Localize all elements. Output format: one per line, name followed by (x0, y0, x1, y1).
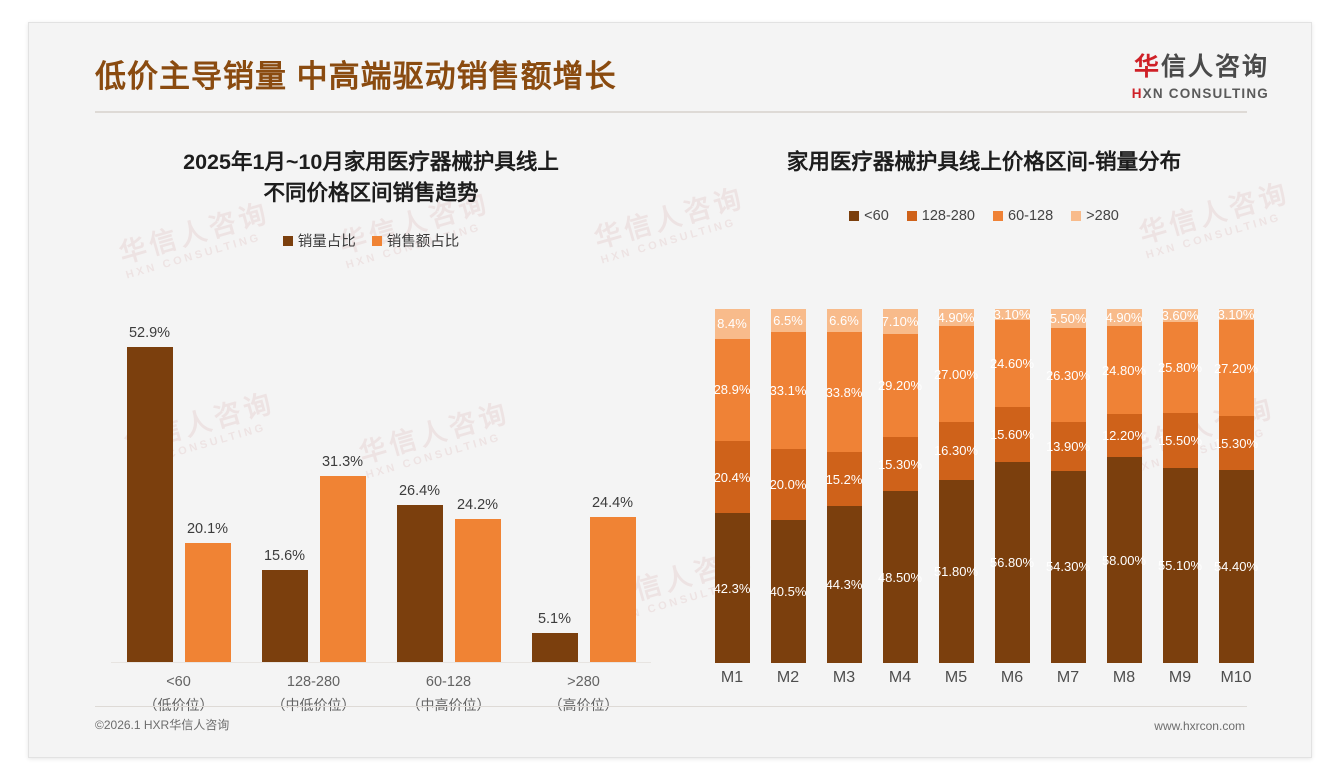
legend-item[interactable]: 销售额占比 (372, 230, 460, 251)
stack-segment[interactable]: 15.2% (827, 452, 862, 506)
logo-chinese-rest: 信人咨询 (1161, 53, 1269, 81)
xaxis-label: M4 (872, 669, 928, 687)
stack-segment[interactable]: 6.6% (827, 309, 862, 332)
xaxis-label-main: 128-280 (287, 674, 340, 690)
xaxis-label: 128-280（中低价位） (246, 671, 381, 717)
stack-segment-label: 15.60% (990, 427, 1034, 442)
legend-swatch-icon (907, 211, 917, 221)
left-chart-title-line1: 2025年1月~10月家用医疗器械护具线上 (65, 147, 677, 178)
left-chart-legend: 销量占比销售额占比 (65, 230, 677, 251)
left-chart-axis (111, 662, 651, 664)
logo-english-first: H (1132, 86, 1143, 101)
bar[interactable] (262, 570, 308, 663)
stacked-bar[interactable]: 7.10%29.20%15.30%48.50% (883, 309, 918, 663)
legend-item-label: 销量占比 (298, 230, 356, 251)
footer-copyright: ©2026.1 HXR华信人咨询 (95, 716, 229, 733)
stack-segment-label: 8.4% (717, 316, 747, 331)
stack-segment[interactable]: 7.10% (883, 309, 918, 334)
stack-segment-label: 5.50% (1050, 311, 1087, 326)
stack-segment-label: 33.1% (770, 383, 807, 398)
xaxis-label-main: 60-128 (426, 674, 471, 690)
stack-segment[interactable]: 55.10% (1163, 468, 1198, 663)
legend-item-label: <60 (864, 208, 889, 224)
stack-column: 6.5%33.1%20.0%40.5% (760, 309, 816, 663)
bar-value-label: 15.6% (264, 548, 305, 564)
xaxis-label: M2 (760, 669, 816, 687)
bar-column[interactable]: 20.1% (185, 305, 231, 663)
left-chart-panel: 2025年1月~10月家用医疗器械护具线上 不同价格区间销售趋势 销量占比销售额… (65, 119, 677, 699)
stack-segment-label: 6.6% (829, 313, 859, 328)
bar-value-label: 24.4% (592, 495, 633, 511)
legend-item[interactable]: 销量占比 (283, 230, 356, 251)
stacked-bar[interactable]: 3.10%27.20%15.30%54.40% (1219, 309, 1254, 663)
stack-segment-label: 13.90% (1046, 439, 1090, 454)
stack-column: 5.50%26.30%13.90%54.30% (1040, 309, 1096, 663)
stack-segment-label: 3.60% (1162, 308, 1199, 323)
stacked-bar[interactable]: 5.50%26.30%13.90%54.30% (1051, 309, 1086, 663)
bar-group: 5.1%24.4% (516, 305, 651, 663)
stacked-bar[interactable]: 4.90%24.80%12.20%58.00% (1107, 309, 1142, 663)
stack-segment-label: 48.50% (878, 570, 922, 585)
legend-swatch-icon (993, 211, 1003, 221)
slide: 华信人咨询 HXN CONSULTING 华信人咨询 HXN CONSULTIN… (28, 22, 1312, 758)
stack-column: 4.90%27.00%16.30%51.80% (928, 309, 984, 663)
bar-group: 26.4%24.2% (381, 305, 516, 663)
stacked-bar[interactable]: 3.60%25.80%15.50%55.10% (1163, 309, 1198, 663)
stack-segment-label: 33.8% (826, 385, 863, 400)
stack-segment[interactable]: 3.10% (995, 309, 1030, 320)
legend-swatch-icon (372, 236, 382, 246)
right-chart-title: 家用医疗器械护具线上价格区间-销量分布 (684, 119, 1284, 178)
legend-item[interactable]: >280 (1071, 208, 1119, 224)
stack-segment[interactable]: 15.50% (1163, 413, 1198, 468)
stack-segment-label: 15.30% (1214, 436, 1258, 451)
stack-segment[interactable]: 24.60% (995, 320, 1030, 407)
bar[interactable] (127, 347, 173, 663)
legend-item[interactable]: 60-128 (993, 208, 1053, 224)
stacked-bar[interactable]: 6.6%33.8%15.2%44.3% (827, 309, 862, 663)
stack-segment-label: 54.30% (1046, 559, 1090, 574)
bar-group: 52.9%20.1% (111, 305, 246, 663)
stack-segment[interactable]: 4.90% (939, 309, 974, 326)
stack-segment[interactable]: 56.80% (995, 462, 1030, 663)
stack-column: 7.10%29.20%15.30%48.50% (872, 309, 928, 663)
stack-segment-label: 29.20% (878, 378, 922, 393)
right-chart-legend: <60128-28060-128>280 (684, 208, 1284, 224)
stack-segment[interactable]: 27.20% (1219, 320, 1254, 416)
legend-item[interactable]: 128-280 (907, 208, 975, 224)
stack-segment-label: 4.90% (1106, 310, 1143, 325)
xaxis-label: 60-128（中高价位） (381, 671, 516, 717)
xaxis-label: M5 (928, 669, 984, 687)
stack-column: 3.60%25.80%15.50%55.10% (1152, 309, 1208, 663)
legend-item-label: 销售额占比 (387, 230, 460, 251)
footer-divider (95, 706, 1247, 707)
stacked-bar[interactable]: 4.90%27.00%16.30%51.80% (939, 309, 974, 663)
stack-segment[interactable]: 54.30% (1051, 471, 1086, 663)
stack-segment-label: 24.80% (1102, 363, 1146, 378)
stack-segment-label: 15.30% (878, 457, 922, 472)
xaxis-label: M6 (984, 669, 1040, 687)
xaxis-label: >280（高价位） (516, 671, 651, 717)
stack-segment-label: 27.20% (1214, 361, 1258, 376)
xaxis-label: M1 (704, 669, 760, 687)
stack-segment[interactable]: 13.90% (1051, 422, 1086, 471)
bar-column[interactable]: 5.1% (532, 305, 578, 663)
legend-item-label: >280 (1086, 208, 1119, 224)
legend-item[interactable]: <60 (849, 208, 889, 224)
stack-segment[interactable]: 20.0% (771, 449, 806, 520)
bar-value-label: 5.1% (538, 611, 571, 627)
right-chart-panel: 家用医疗器械护具线上价格区间-销量分布 <60128-28060-128>280… (684, 119, 1284, 699)
stack-segment[interactable]: 54.40% (1219, 470, 1254, 663)
footer-website: www.hxrcon.com (1154, 719, 1245, 733)
bar[interactable] (455, 519, 501, 663)
stack-column: 3.10%27.20%15.30%54.40% (1208, 309, 1264, 663)
stack-segment-label: 58.00% (1102, 553, 1146, 568)
stack-segment[interactable]: 25.80% (1163, 322, 1198, 413)
stack-segment-label: 24.60% (990, 356, 1034, 371)
bar-value-label: 24.2% (457, 497, 498, 513)
legend-swatch-icon (283, 236, 293, 246)
stack-segment[interactable]: 15.60% (995, 407, 1030, 462)
left-chart-title: 2025年1月~10月家用医疗器械护具线上 不同价格区间销售趋势 (65, 119, 677, 208)
bar[interactable] (185, 543, 231, 663)
logo-chinese-first: 华 (1134, 53, 1161, 81)
stack-segment[interactable]: 27.00% (939, 326, 974, 422)
stack-segment-label: 15.50% (1158, 433, 1202, 448)
xaxis-label: <60（低价位） (111, 671, 246, 717)
bar-value-label: 26.4% (399, 483, 440, 499)
stack-segment-label: 54.40% (1214, 559, 1258, 574)
xaxis-label: M7 (1040, 669, 1096, 687)
stack-segment-label: 40.5% (770, 584, 807, 599)
xaxis-label: M10 (1208, 669, 1264, 687)
stack-segment[interactable]: 40.5% (771, 520, 806, 663)
stack-segment-label: 28.9% (714, 382, 751, 397)
stack-segment-label: 20.4% (714, 470, 751, 485)
stack-column: 4.90%24.80%12.20%58.00% (1096, 309, 1152, 663)
stack-segment-label: 55.10% (1158, 558, 1202, 573)
stack-segment[interactable]: 20.4% (715, 441, 750, 513)
stack-segment-label: 12.20% (1102, 428, 1146, 443)
stack-segment[interactable]: 42.3% (715, 513, 750, 663)
stack-segment-label: 20.0% (770, 477, 807, 492)
stack-segment[interactable]: 44.3% (827, 506, 862, 663)
stack-segment-label: 6.5% (773, 313, 803, 328)
stack-segment[interactable]: 5.50% (1051, 309, 1086, 328)
stack-segment-label: 27.00% (934, 367, 978, 382)
xaxis-label-main: >280 (567, 674, 600, 690)
xaxis-label: M8 (1096, 669, 1152, 687)
left-chart-xaxis-labels: <60（低价位）128-280（中低价位）60-128（中高价位）>280（高价… (111, 671, 651, 717)
stack-segment[interactable]: 3.10% (1219, 309, 1254, 320)
stack-segment[interactable]: 29.20% (883, 334, 918, 437)
logo-english: HXN CONSULTING (1132, 87, 1269, 101)
bar[interactable] (320, 476, 366, 663)
bar[interactable] (590, 517, 636, 663)
stack-segment-label: 16.30% (934, 443, 978, 458)
stack-segment[interactable]: 15.30% (883, 437, 918, 491)
stack-segment-label: 7.10% (882, 314, 919, 329)
xaxis-label-main: <60 (166, 674, 191, 690)
stack-segment[interactable]: 26.30% (1051, 328, 1086, 421)
stack-segment[interactable]: 48.50% (883, 491, 918, 663)
stacked-bar[interactable]: 8.4%28.9%20.4%42.3% (715, 309, 750, 663)
stack-column: 8.4%28.9%20.4%42.3% (704, 309, 760, 663)
bar-column[interactable]: 31.3% (320, 305, 366, 663)
stack-segment[interactable]: 8.4% (715, 309, 750, 339)
stack-segment[interactable]: 12.20% (1107, 414, 1142, 457)
xaxis-label: M9 (1152, 669, 1208, 687)
bar-column[interactable]: 52.9% (127, 305, 173, 663)
bar-column[interactable]: 15.6% (262, 305, 308, 663)
header-divider (95, 111, 1247, 113)
legend-swatch-icon (1071, 211, 1081, 221)
stack-segment-label: 26.30% (1046, 368, 1090, 383)
stack-segment-label: 25.80% (1158, 360, 1202, 375)
stack-segment-label: 56.80% (990, 555, 1034, 570)
stack-segment-label: 15.2% (826, 472, 863, 487)
bar-value-label: 31.3% (322, 454, 363, 470)
stack-segment[interactable]: 15.30% (1219, 416, 1254, 470)
logo: 华信人咨询 HXN CONSULTING (1132, 55, 1269, 101)
stack-segment-label: 4.90% (938, 310, 975, 325)
right-chart-title-text: 家用医疗器械护具线上价格区间-销量分布 (684, 147, 1284, 178)
header: 低价主导销量 中高端驱动销售额增长 (29, 23, 1311, 115)
stack-segment[interactable]: 16.30% (939, 422, 974, 480)
stack-segment[interactable]: 58.00% (1107, 457, 1142, 663)
right-chart-xaxis-labels: M1M2M3M4M5M6M7M8M9M10 (704, 669, 1264, 687)
legend-item-label: 60-128 (1008, 208, 1053, 224)
left-chart-plot: 52.9%20.1%15.6%31.3%26.4%24.2%5.1%24.4% (111, 305, 651, 663)
stack-segment-label: 42.3% (714, 581, 751, 596)
stack-segment-label: 44.3% (826, 577, 863, 592)
bar-value-label: 20.1% (187, 521, 228, 537)
bar-column[interactable]: 26.4% (397, 305, 443, 663)
page-title: 低价主导销量 中高端驱动销售额增长 (95, 51, 617, 96)
stack-segment[interactable]: 4.90% (1107, 309, 1142, 326)
logo-english-rest: XN CONSULTING (1143, 86, 1269, 101)
stack-segment[interactable]: 24.80% (1107, 326, 1142, 414)
stack-column: 6.6%33.8%15.2%44.3% (816, 309, 872, 663)
stacked-bar[interactable]: 3.10%24.60%15.60%56.80% (995, 309, 1030, 663)
left-chart-title-line2: 不同价格区间销售趋势 (65, 178, 677, 209)
stack-segment[interactable]: 33.1% (771, 332, 806, 449)
stack-segment-label: 51.80% (934, 564, 978, 579)
stack-segment[interactable]: 28.9% (715, 339, 750, 441)
bar-column[interactable]: 24.4% (590, 305, 636, 663)
bar[interactable] (532, 633, 578, 663)
xaxis-label: M3 (816, 669, 872, 687)
right-chart-plot: 8.4%28.9%20.4%42.3%6.5%33.1%20.0%40.5%6.… (704, 309, 1264, 663)
legend-swatch-icon (849, 211, 859, 221)
stack-segment[interactable]: 33.8% (827, 332, 862, 452)
bar-group: 15.6%31.3% (246, 305, 381, 663)
logo-chinese: 华信人咨询 (1132, 55, 1269, 80)
bar-column[interactable]: 24.2% (455, 305, 501, 663)
legend-item-label: 128-280 (922, 208, 975, 224)
stack-column: 3.10%24.60%15.60%56.80% (984, 309, 1040, 663)
bar[interactable] (397, 505, 443, 663)
bar-value-label: 52.9% (129, 325, 170, 341)
stack-segment[interactable]: 6.5% (771, 309, 806, 332)
stack-segment[interactable]: 51.80% (939, 480, 974, 663)
stacked-bar[interactable]: 6.5%33.1%20.0%40.5% (771, 309, 806, 663)
stack-segment[interactable]: 3.60% (1163, 309, 1198, 322)
